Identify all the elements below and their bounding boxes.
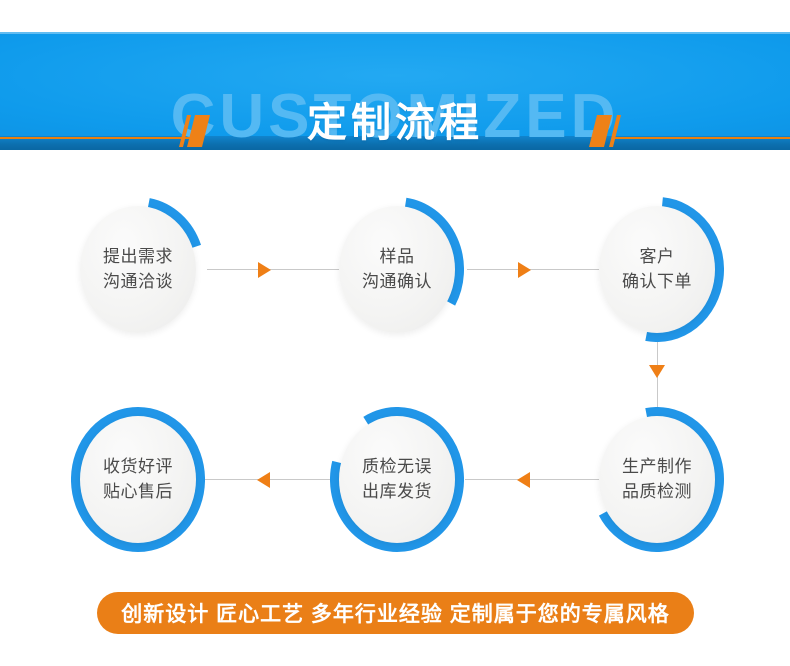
step-1-label: 提出需求 沟通洽谈 (71, 197, 205, 342)
step-6-label: 收货好评 贴心售后 (71, 407, 205, 552)
banner-top-hairline (0, 32, 790, 34)
step-3-label: 客户 确认下单 (590, 197, 724, 342)
step-6-line1: 收货好评 (103, 455, 173, 480)
connector-step2-step3 (467, 269, 605, 270)
process-step-3[interactable]: 客户 确认下单 (590, 197, 724, 342)
arrow-step1-step2-icon (258, 262, 271, 278)
step-6-line2: 贴心售后 (103, 480, 173, 505)
footer-slogan-text: 创新设计 匠心工艺 多年行业经验 定制属于您的专属风格 (121, 598, 670, 628)
step-3-line2: 确认下单 (622, 270, 692, 295)
page-header-banner: CUSTOMIZED 定制流程 (0, 32, 790, 150)
arrow-step4-step5-icon (517, 472, 530, 488)
step-5-line2: 出库发货 (362, 480, 432, 505)
page-title: 定制流程 (0, 102, 790, 144)
step-5-label: 质检无误 出库发货 (330, 407, 464, 552)
connector-step4-step5 (465, 479, 605, 480)
step-2-line2: 沟通确认 (362, 270, 432, 295)
step-1-line2: 沟通洽谈 (103, 270, 173, 295)
process-step-2[interactable]: 样品 沟通确认 (330, 197, 464, 342)
process-flow-diagram: 提出需求 沟通洽谈 样品 沟通确认 客户 确认下单 生产制作 品 (0, 150, 790, 580)
step-2-label: 样品 沟通确认 (330, 197, 464, 342)
process-step-5[interactable]: 质检无误 出库发货 (330, 407, 464, 552)
step-4-line2: 品质检测 (622, 480, 692, 505)
process-step-6[interactable]: 收货好评 贴心售后 (71, 407, 205, 552)
process-step-4[interactable]: 生产制作 品质检测 (590, 407, 724, 552)
connector-step5-step6 (205, 479, 345, 480)
step-2-line1: 样品 (380, 245, 415, 270)
step-4-label: 生产制作 品质检测 (590, 407, 724, 552)
step-1-line1: 提出需求 (103, 245, 173, 270)
process-step-1[interactable]: 提出需求 沟通洽谈 (71, 197, 205, 342)
arrow-step3-step4-icon (649, 365, 665, 378)
step-5-line1: 质检无误 (362, 455, 432, 480)
step-4-line1: 生产制作 (622, 455, 692, 480)
arrow-step5-step6-icon (257, 472, 270, 488)
arrow-step2-step3-icon (518, 262, 531, 278)
step-3-line1: 客户 (640, 245, 675, 270)
footer-slogan-banner: 创新设计 匠心工艺 多年行业经验 定制属于您的专属风格 (97, 592, 694, 634)
connector-step1-step2 (207, 269, 343, 270)
